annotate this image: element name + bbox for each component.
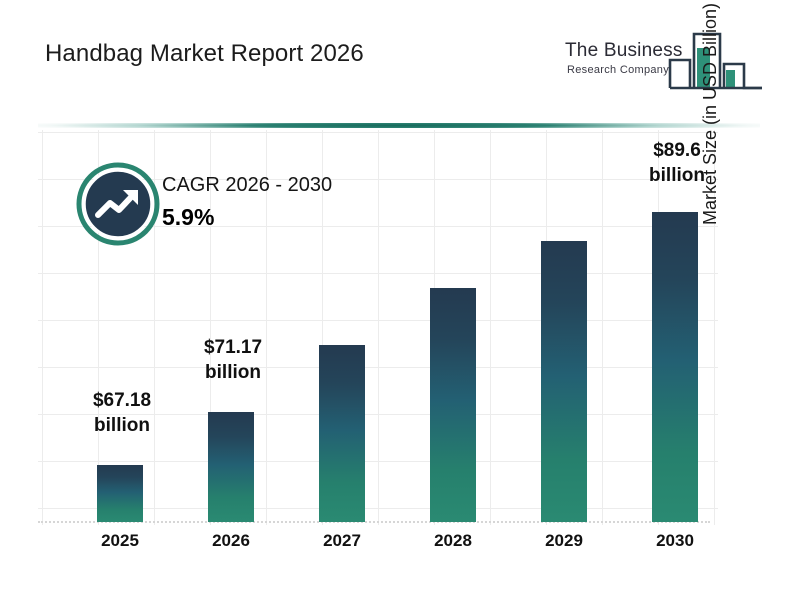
page-title: Handbag Market Report 2026 (45, 40, 364, 68)
x-label-2025: 2025 (65, 531, 175, 551)
header-divider (38, 123, 760, 128)
header: Handbag Market Report 2026 The Business … (0, 0, 800, 118)
y-axis-title-text: Market Size (in USD Billion) (700, 3, 721, 225)
chart-page: Handbag Market Report 2026 The Business … (0, 0, 800, 600)
x-axis-labels: 2025 2026 2027 2028 2029 2030 (38, 531, 710, 561)
bar-2029[interactable] (541, 241, 587, 522)
logo-text-main: The Business (565, 40, 683, 62)
value-label-2025-line1: $67.18 (62, 388, 182, 413)
trending-up-arrow-icon (76, 162, 160, 246)
bar-2028[interactable] (430, 288, 476, 522)
value-label-2026: $71.17 billion (173, 335, 293, 386)
logo-text-sub: Research Company (567, 64, 669, 76)
cagr-value: 5.9% (162, 204, 214, 231)
bar-2025[interactable] (97, 465, 143, 522)
x-label-2030: 2030 (620, 531, 730, 551)
cagr-badge: CAGR 2026 - 2030 5.9% (76, 160, 376, 252)
value-label-2026-line1: $71.17 (173, 335, 293, 360)
x-label-2026: 2026 (176, 531, 286, 551)
value-label-2026-line2: billion (173, 360, 293, 385)
bar-2030[interactable] (652, 212, 698, 522)
x-label-2029: 2029 (509, 531, 619, 551)
company-logo: The Business Research Company (560, 28, 765, 100)
cagr-period-label: CAGR 2026 - 2030 (162, 174, 332, 197)
x-label-2028: 2028 (398, 531, 508, 551)
bar-2027[interactable] (319, 345, 365, 522)
value-label-2025: $67.18 billion (62, 388, 182, 439)
x-label-2027: 2027 (287, 531, 397, 551)
value-label-2025-line2: billion (62, 413, 182, 438)
y-axis-title: Market Size (in USD Billion) (700, 0, 721, 225)
bar-2026[interactable] (208, 412, 254, 522)
